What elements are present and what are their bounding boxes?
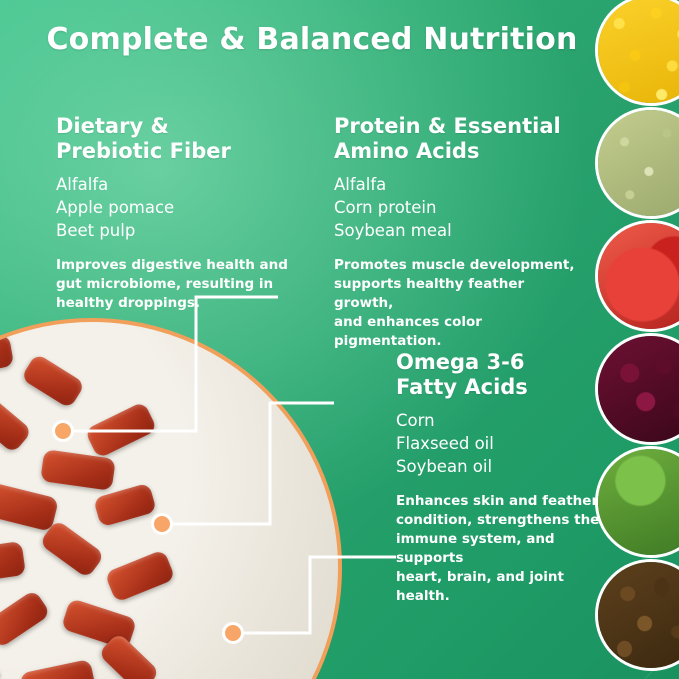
poster-title: Complete & Balanced Nutrition: [0, 22, 624, 57]
corn-kernels-photo: [595, 0, 679, 106]
block-description: Improves digestive health and gut microb…: [56, 256, 306, 313]
block-heading: Dietary & Prebiotic Fiber: [56, 114, 306, 164]
block-ingredients: Alfalfa Apple pomace Beet pulp: [56, 174, 306, 242]
ingredient-photo-column: [609, 0, 679, 679]
block-heading: Protein & Essential Amino Acids: [334, 114, 584, 164]
callout-dot-protein: [151, 513, 173, 535]
block-ingredients: Corn Flaxseed oil Soybean oil: [396, 410, 616, 478]
product-bowl-photo: [0, 318, 342, 679]
callout-dot-fiber: [52, 420, 74, 442]
nutrition-infographic: Complete & Balanced Nutrition: [0, 0, 679, 679]
apple-photo: [595, 220, 679, 332]
block-description: Enhances skin and feather condition, str…: [396, 492, 616, 607]
block-heading: Omega 3-6 Fatty Acids: [396, 350, 616, 400]
block-description: Promotes muscle development, supports he…: [334, 256, 584, 352]
callout-dot-omega: [222, 622, 244, 644]
nutrition-block-fiber: Dietary & Prebiotic Fiber Alfalfa Apple …: [56, 114, 306, 313]
nutrition-block-omega: Omega 3-6 Fatty Acids Corn Flaxseed oil …: [396, 350, 616, 607]
block-ingredients: Alfalfa Corn protein Soybean meal: [334, 174, 584, 242]
soybean-meal-photo: [595, 107, 679, 219]
nutrition-block-protein: Protein & Essential Amino Acids Alfalfa …: [334, 114, 584, 351]
